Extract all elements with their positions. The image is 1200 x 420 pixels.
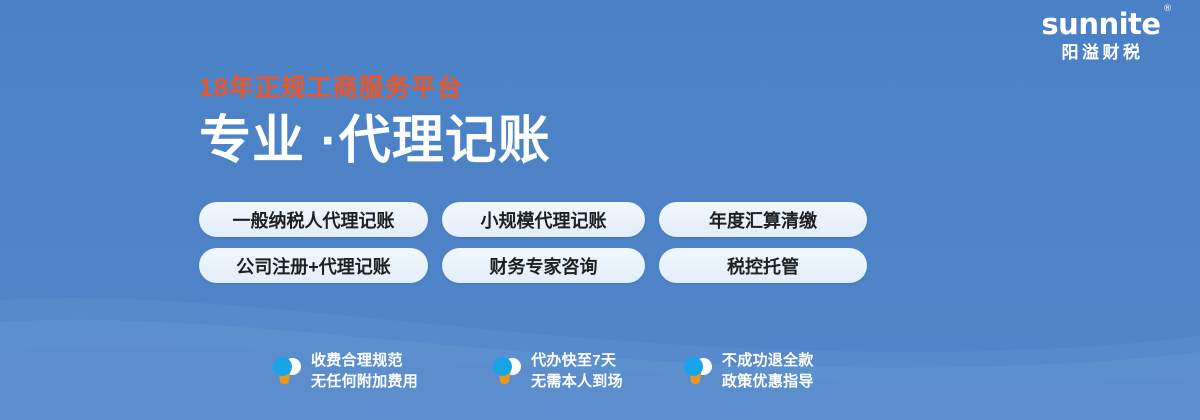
service-pill-small-scale-bookkeeping[interactable]: 小规模代理记账 — [442, 202, 645, 237]
logo-chinese-name: 阳溢财税 — [1026, 41, 1176, 65]
service-pill-row: 公司注册+代理记账 财务专家咨询 税控托管 — [199, 248, 867, 283]
feature-line-1: 收费合理规范 — [311, 350, 418, 371]
feature-item-speed: 代办快至7天 无需本人到场 — [492, 350, 623, 392]
service-pill-tax-control-hosting[interactable]: 税控托管 — [659, 248, 867, 283]
service-pill-grid: 一般纳税人代理记账 小规模代理记账 年度汇算清缴 公司注册+代理记账 财务专家咨… — [199, 202, 867, 283]
service-pill-row: 一般纳税人代理记账 小规模代理记账 年度汇算清缴 — [199, 202, 867, 237]
service-pill-finance-expert-consulting[interactable]: 财务专家咨询 — [442, 248, 645, 283]
coin-cup-icon — [272, 354, 302, 388]
promo-banner: sunnite® 阳溢财税 18年正规工商服务平台 专业 ·代理记账 一般纳税人… — [0, 0, 1200, 420]
feature-line-1: 不成功退全款 — [722, 350, 814, 371]
feature-text-guarantee: 不成功退全款 政策优惠指导 — [722, 350, 814, 392]
coin-cup-icon — [683, 354, 713, 388]
service-pill-company-registration-bookkeeping[interactable]: 公司注册+代理记账 — [199, 248, 428, 283]
hero-eyebrow: 18年正规工商服务平台 — [199, 72, 551, 104]
feature-text-speed: 代办快至7天 无需本人到场 — [531, 350, 623, 392]
feature-item-pricing: 收费合理规范 无任何附加费用 — [272, 350, 418, 392]
service-pill-general-taxpayer-bookkeeping[interactable]: 一般纳税人代理记账 — [199, 202, 428, 237]
coin-cup-icon — [492, 354, 522, 388]
feature-text-pricing: 收费合理规范 无任何附加费用 — [311, 350, 418, 392]
hero-title: 专业 ·代理记账 — [199, 110, 551, 172]
brand-logo[interactable]: sunnite® 阳溢财税 — [1026, 8, 1176, 65]
service-pill-annual-tax-settlement[interactable]: 年度汇算清缴 — [659, 202, 867, 237]
feature-line-2: 无需本人到场 — [531, 371, 623, 392]
registered-trademark-icon: ® — [1163, 5, 1172, 14]
feature-line-1: 代办快至7天 — [531, 350, 623, 371]
logo-wordmark: sunnite® — [1041, 8, 1160, 40]
feature-item-guarantee: 不成功退全款 政策优惠指导 — [683, 350, 814, 392]
logo-wordmark-text: sunnite — [1041, 7, 1160, 41]
hero-text-block: 18年正规工商服务平台 专业 ·代理记账 — [199, 72, 551, 172]
feature-line-2: 政策优惠指导 — [722, 371, 814, 392]
feature-line-2: 无任何附加费用 — [311, 371, 418, 392]
feature-strip: 收费合理规范 无任何附加费用 代办快至7天 无需本人到场 不成功退全款 政策优惠… — [272, 350, 814, 392]
